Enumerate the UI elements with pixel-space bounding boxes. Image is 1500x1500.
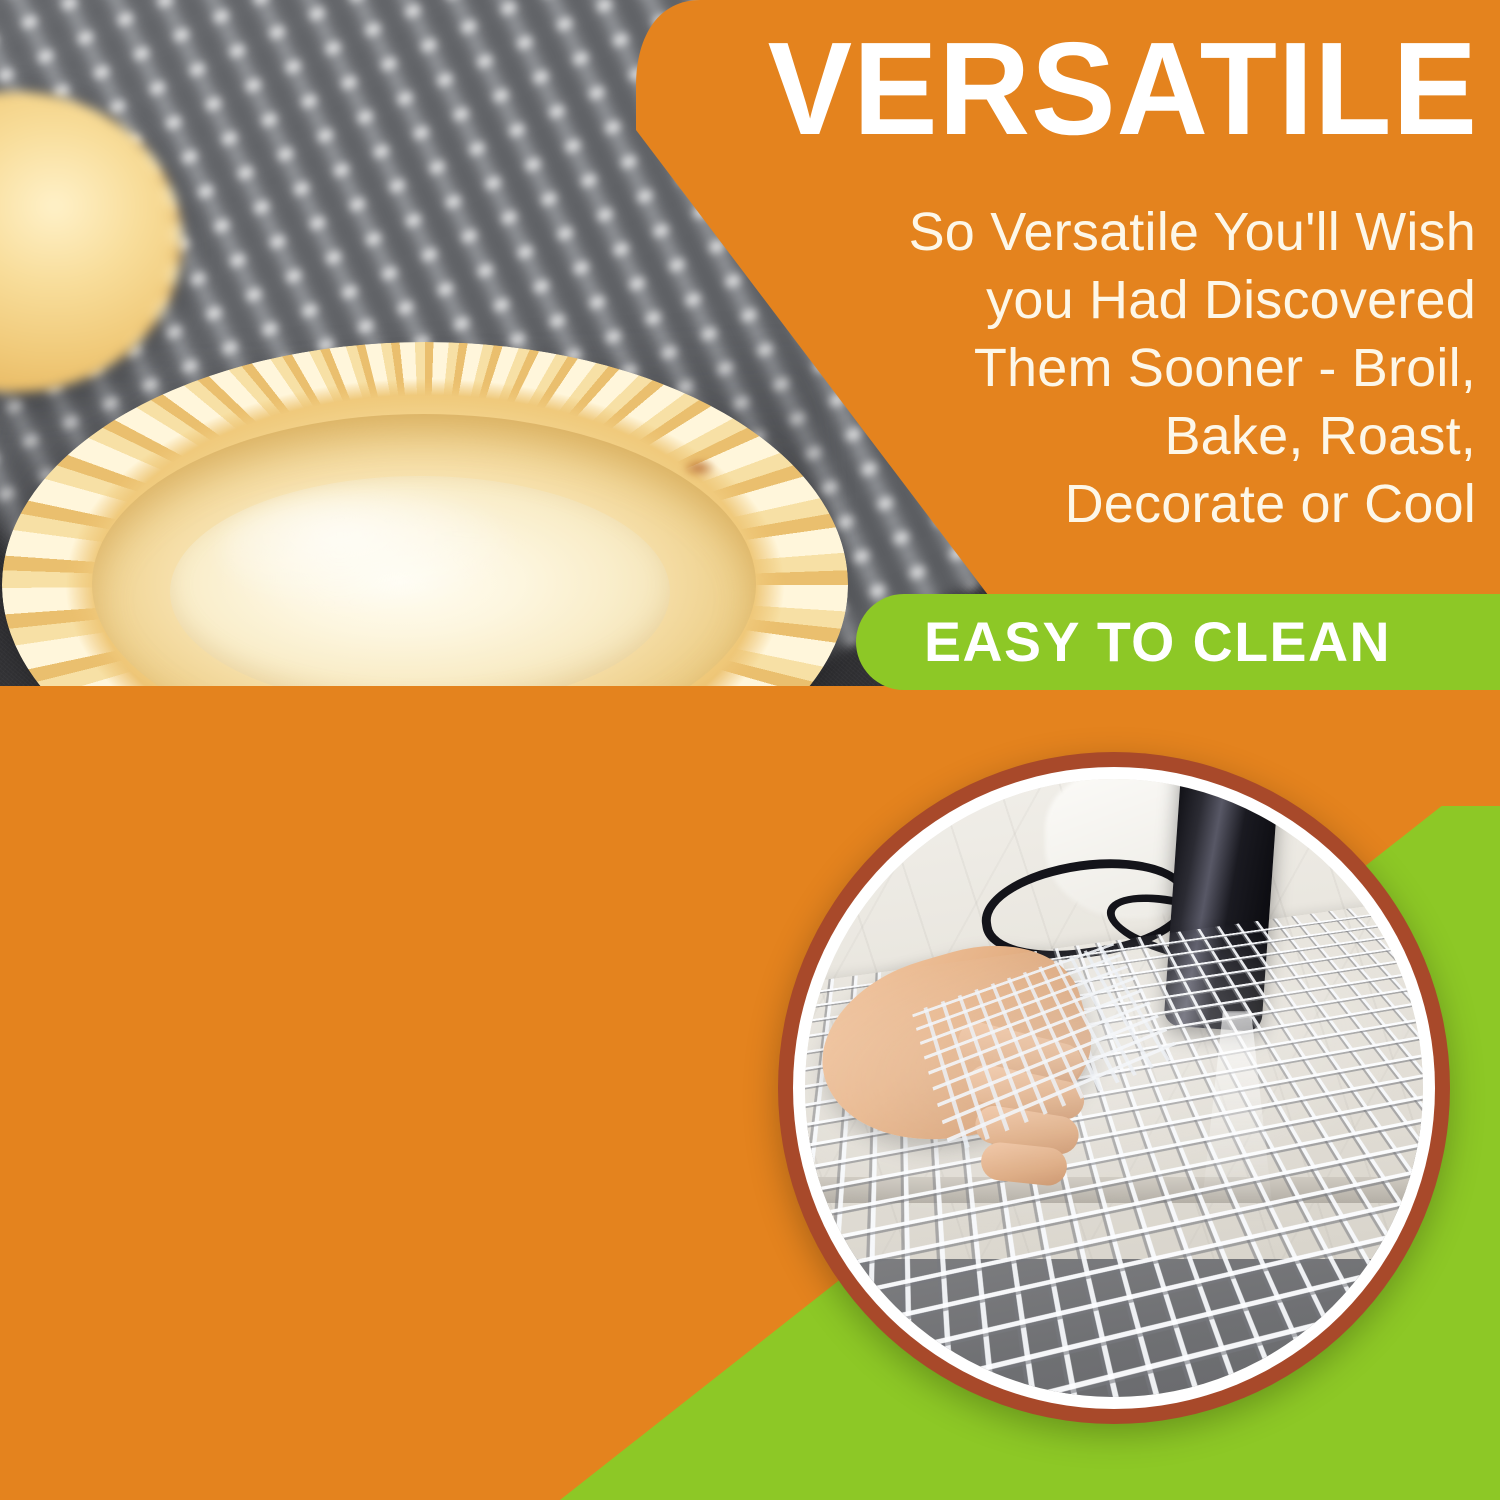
inset-photo [805, 779, 1423, 1397]
description-line: Them Sooner - Broil, [816, 334, 1476, 402]
description-line: you Had Discovered [816, 266, 1476, 334]
tart-browning-spot [682, 458, 716, 478]
description-line: Bake, Roast, [816, 402, 1476, 470]
feature-description: So Versatile You'll Wish you Had Discove… [816, 198, 1476, 538]
product-feature-banner: VERSATILE So Versatile You'll Wish you H… [0, 0, 1500, 1500]
tart-highlight [220, 492, 520, 612]
inset-photo-frame [778, 752, 1450, 1424]
status-badge: EASY TO CLEAN [856, 594, 1500, 690]
page-title: VERSATILE [691, 22, 1478, 157]
status-badge-label: EASY TO CLEAN [859, 614, 1391, 670]
inset-mesh-sheen [805, 896, 1423, 1397]
description-line: So Versatile You'll Wish [816, 198, 1476, 266]
description-line: Decorate or Cool [816, 470, 1476, 538]
